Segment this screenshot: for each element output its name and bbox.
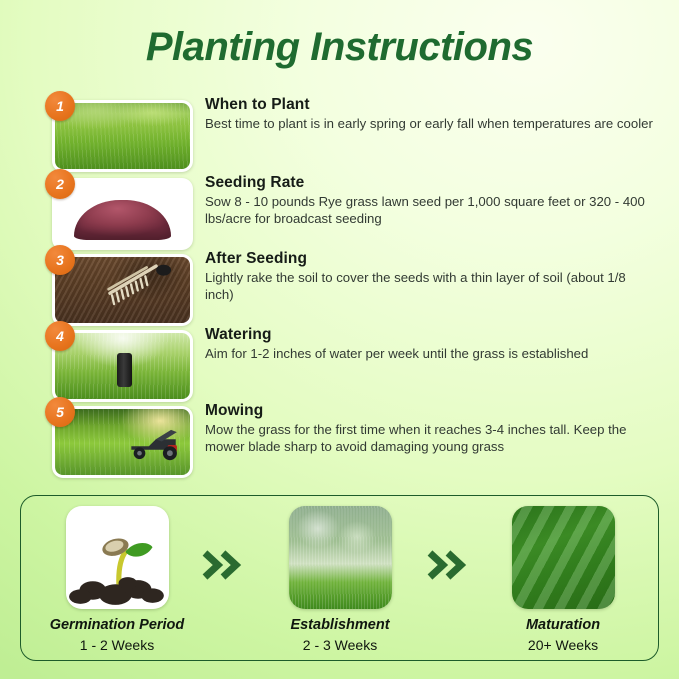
timeline-stage-establishment: Establishment 2 - 3 Weeks (250, 506, 430, 654)
step-body-3: Lightly rake the soil to cover the seeds… (205, 270, 657, 303)
timeline-stage-name-2: Establishment (250, 617, 430, 634)
rake-illustration (98, 262, 182, 310)
step-heading-1: When to Plant (205, 95, 657, 114)
planting-instructions-infographic: Planting Instructions 1 When to Plant Be… (0, 0, 679, 679)
step-item-2: 2 Seeding Rate Sow 8 - 10 pounds Rye gra… (0, 174, 679, 250)
grass-seed-pile-photo (55, 181, 190, 247)
step-thumbnail-1: 1 (45, 96, 193, 172)
step-thumbnail-2: 2 (45, 174, 193, 250)
timeline-stage-maturation: Maturation 20+ Weeks (473, 506, 653, 654)
step-thumbnail-4: 4 (45, 326, 193, 402)
step-item-3: 3 After Seeding Lightly rake the soil to… (0, 250, 679, 326)
page-title: Planting Instructions (0, 24, 679, 70)
step-heading-4: Watering (205, 325, 657, 344)
timeline-stage-name-1: Germination Period (27, 617, 207, 634)
timeline-stage-germination: Germination Period 1 - 2 Weeks (27, 506, 207, 654)
double-chevron-right-icon-2 (426, 548, 470, 582)
lawn-grass-photo (55, 103, 190, 169)
step-item-5: 5 Mowing Mow the grass for the first tim… (0, 402, 679, 478)
step-number-badge-3: 3 (45, 245, 75, 275)
timeline-stage-name-3: Maturation (473, 617, 653, 634)
step-number-badge-1: 1 (45, 91, 75, 121)
step-number-badge-2: 2 (45, 169, 75, 199)
mowed-lawn-stripes-photo (512, 506, 615, 609)
growth-timeline: Germination Period 1 - 2 Weeks Establish… (20, 495, 659, 661)
step-heading-5: Mowing (205, 401, 657, 420)
double-chevron-right-icon-1 (201, 548, 245, 582)
step-body-1: Best time to plant is in early spring or… (205, 116, 657, 133)
timeline-stage-duration-2: 2 - 3 Weeks (250, 637, 430, 654)
step-item-1: 1 When to Plant Best time to plant is in… (0, 96, 679, 174)
step-body-5: Mow the grass for the first time when it… (205, 422, 657, 455)
step-heading-2: Seeding Rate (205, 173, 657, 192)
step-body-2: Sow 8 - 10 pounds Rye grass lawn seed pe… (205, 194, 657, 227)
young-grass-photo (289, 506, 392, 609)
mower-illustration (125, 424, 184, 465)
step-body-4: Aim for 1-2 inches of water per week unt… (205, 346, 657, 363)
step-number-badge-5: 5 (45, 397, 75, 427)
step-number-badge-4: 4 (45, 321, 75, 351)
sprinkler-head-illustration (117, 353, 132, 387)
timeline-stage-duration-3: 20+ Weeks (473, 637, 653, 654)
step-item-4: 4 Watering Aim for 1-2 inches of water p… (0, 326, 679, 402)
sprout-illustration (66, 506, 169, 609)
timeline-stage-duration-1: 1 - 2 Weeks (27, 637, 207, 654)
step-thumbnail-5: 5 (45, 402, 193, 478)
step-thumbnail-3: 3 (45, 250, 193, 326)
steps-list: 1 When to Plant Best time to plant is in… (0, 96, 679, 478)
step-heading-3: After Seeding (205, 249, 657, 268)
